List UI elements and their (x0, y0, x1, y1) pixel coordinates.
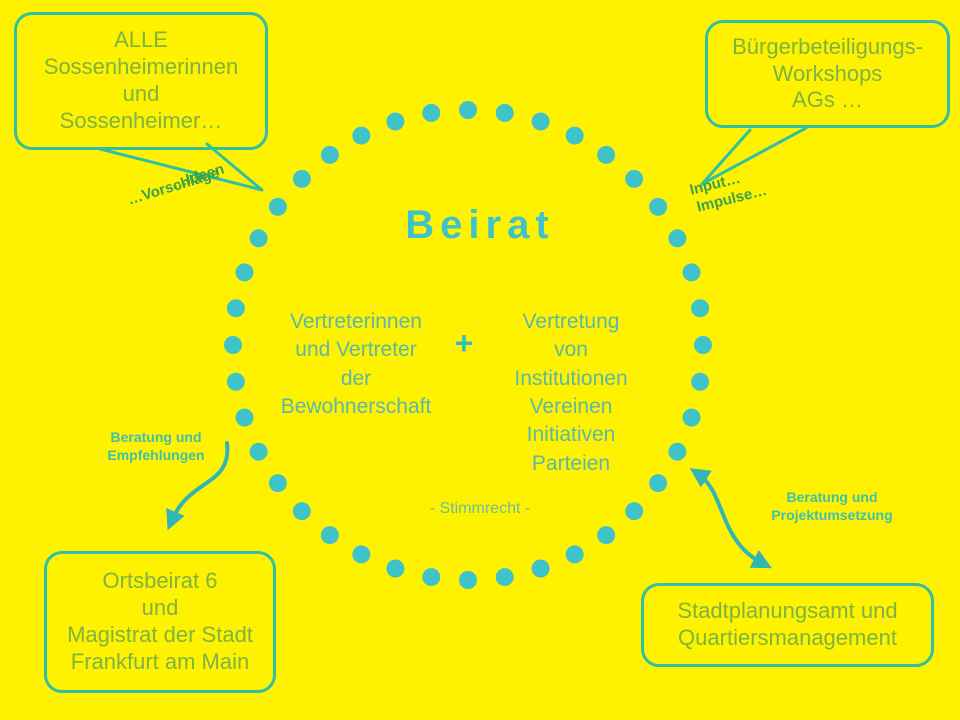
circle-dot (422, 104, 440, 122)
circle-dot (566, 127, 584, 145)
circle-dot (496, 568, 514, 586)
circle-dot (459, 571, 477, 589)
circle-dot (625, 502, 643, 520)
circle-dot (293, 170, 311, 188)
circle-dot (496, 104, 514, 122)
circle-dot (683, 409, 701, 427)
circle-dot (293, 502, 311, 520)
circle-dot (227, 299, 245, 317)
bubble-buergerbeteiligungs-workshops[interactable]: Bürgerbeteiligungs- Workshops AGs … (705, 20, 950, 128)
circle-dot (352, 127, 370, 145)
circle-dot (683, 263, 701, 281)
circle-dot (532, 560, 550, 578)
circle-dot (625, 170, 643, 188)
circle-dot (321, 146, 339, 164)
diagram-canvas: ALLE Sossenheimerinnen und Sossenheimer…… (0, 0, 960, 720)
circle-dot (597, 146, 615, 164)
circle-dot (236, 409, 254, 427)
label-beratung-und-projektumsetzung: Beratung und Projektumsetzung (742, 488, 922, 524)
circle-dot (269, 474, 287, 492)
box-ortsbeirat-magistrat[interactable]: Ortsbeirat 6 und Magistrat der Stadt Fra… (44, 551, 276, 693)
page-title: Beirat (0, 203, 960, 248)
center-column-institutionen: Vertretung von Institutionen Vereinen In… (478, 308, 664, 478)
circle-dot (386, 560, 404, 578)
label-beratung-und-empfehlungen: Beratung und Empfehlungen (76, 428, 236, 464)
center-column-bewohnerschaft: Vertreterinnen und Vertreter der Bewohne… (268, 308, 444, 421)
circle-dot (694, 336, 712, 354)
circle-dot (691, 373, 709, 391)
circle-dot (597, 526, 615, 544)
circle-dot (236, 263, 254, 281)
circle-dot (691, 299, 709, 317)
circle-dot (321, 526, 339, 544)
footnote-stimmrecht: - Stimmrecht - (360, 500, 600, 518)
circle-dot (422, 568, 440, 586)
circle-dot (250, 443, 268, 461)
box-stadtplanungsamt-quartiersmanagement[interactable]: Stadtplanungsamt und Quartiersmanagement (641, 583, 934, 667)
circle-dot (224, 336, 242, 354)
circle-dot (352, 545, 370, 563)
circle-dot (668, 443, 686, 461)
circle-dot (227, 373, 245, 391)
circle-dot (386, 113, 404, 131)
circle-dot (532, 113, 550, 131)
circle-dot (459, 101, 477, 119)
circle-dot (566, 545, 584, 563)
bubble-alle-sossenheimer[interactable]: ALLE Sossenheimerinnen und Sossenheimer… (14, 12, 268, 150)
